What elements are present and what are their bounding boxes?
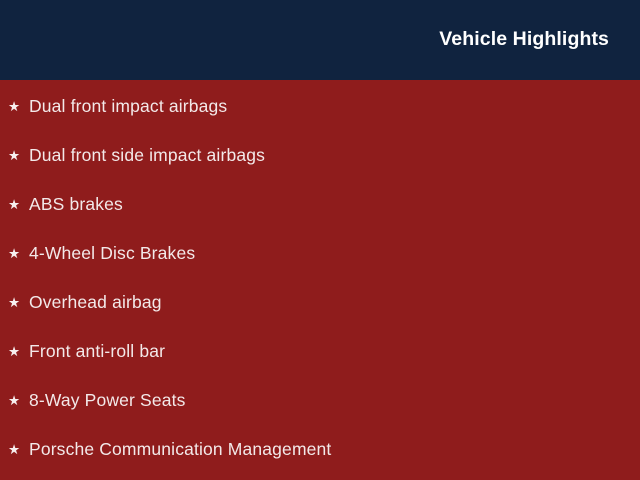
highlights-list: ★ Dual front impact airbags ★ Dual front…: [0, 80, 640, 474]
vehicle-highlights-slide: Vehicle Highlights ★ Dual front impact a…: [0, 0, 640, 480]
list-item-label: 8-Way Power Seats: [29, 390, 186, 410]
list-item-label: Dual front side impact airbags: [29, 145, 265, 165]
list-item: ★ ABS brakes: [0, 180, 640, 229]
star-icon: ★: [8, 100, 29, 114]
star-icon: ★: [8, 198, 29, 212]
highlights-panel: ★ Dual front impact airbags ★ Dual front…: [0, 80, 640, 480]
list-item-label: Dual front impact airbags: [29, 96, 227, 116]
page-title: Vehicle Highlights: [439, 30, 609, 50]
list-item: ★ 8-Way Power Seats: [0, 376, 640, 425]
star-icon: ★: [8, 345, 29, 359]
star-icon: ★: [8, 296, 29, 310]
list-item: ★ 4-Wheel Disc Brakes: [0, 229, 640, 278]
list-item-label: Front anti-roll bar: [29, 341, 165, 361]
list-item: ★ Overhead airbag: [0, 278, 640, 327]
star-icon: ★: [8, 247, 29, 261]
star-icon: ★: [8, 443, 29, 457]
list-item-label: Overhead airbag: [29, 292, 162, 312]
list-item: ★ Porsche Communication Management: [0, 425, 640, 474]
list-item: ★ Dual front impact airbags: [0, 82, 640, 131]
list-item: ★ Dual front side impact airbags: [0, 131, 640, 180]
list-item-label: Porsche Communication Management: [29, 439, 331, 459]
star-icon: ★: [8, 149, 29, 163]
star-icon: ★: [8, 394, 29, 408]
slide-header: Vehicle Highlights: [0, 0, 640, 80]
list-item: ★ Front anti-roll bar: [0, 327, 640, 376]
list-item-label: 4-Wheel Disc Brakes: [29, 243, 195, 263]
list-item-label: ABS brakes: [29, 194, 123, 214]
